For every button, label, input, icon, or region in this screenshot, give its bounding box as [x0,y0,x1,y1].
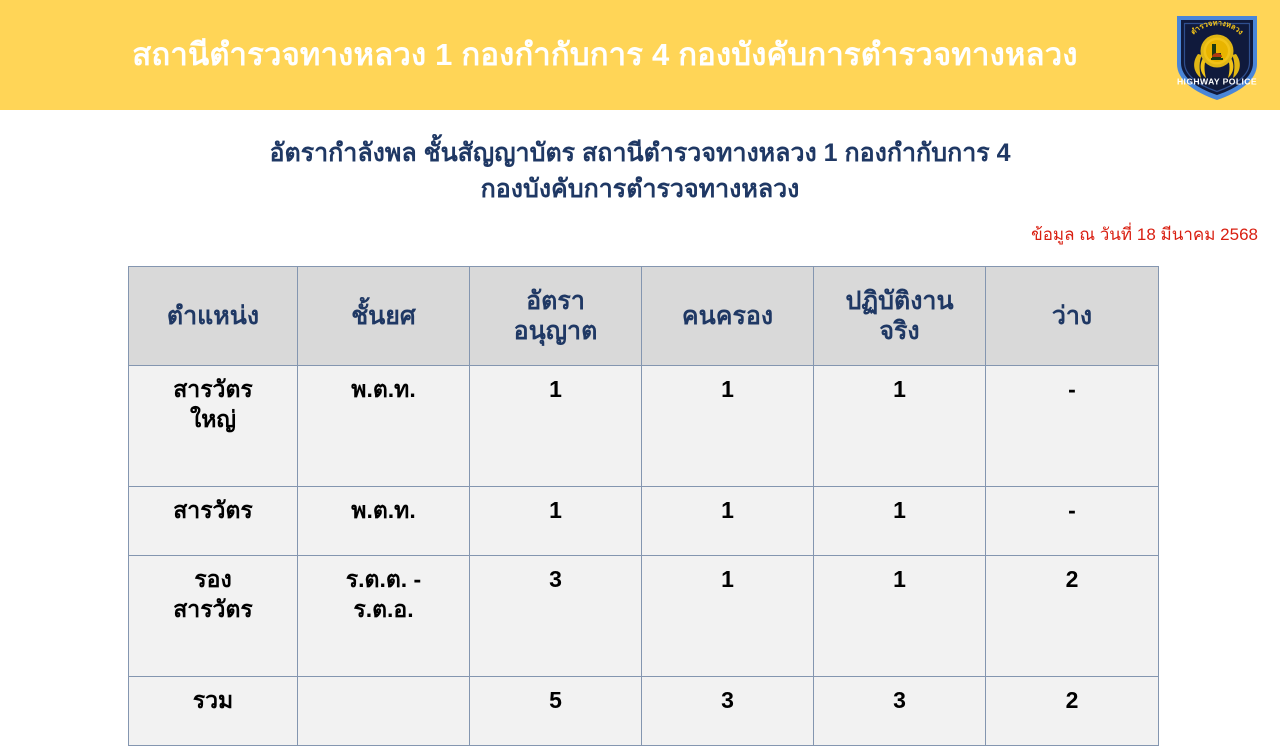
column-header-vacant: ว่าง [986,267,1159,366]
table-row: สารวัตร พ.ต.ท. 1 1 1 - [129,487,1159,556]
column-header-quota: อัตรา อนุญาต [470,267,642,366]
cell-active: 1 [814,366,986,487]
cell-total-rank [298,677,470,746]
table-header-row: ตำแหน่ง ชั้นยศ อัตรา อนุญาต คนคร [129,267,1159,366]
personnel-table-container: ตำแหน่ง ชั้นยศ อัตรา อนุญาต คนคร [128,266,1158,746]
column-header-held-line-1: คนครอง [648,301,807,332]
cell-rank-line-1: ร.ต.ต. - [304,564,463,594]
page-title: อัตรากำลังพล ชั้นสัญญาบัตร สถานีตำรวจทาง… [0,110,1280,207]
column-header-held: คนครอง [642,267,814,366]
cell-quota: 3 [470,556,642,677]
cell-position: สารวัตร ใหญ่ [129,366,298,487]
cell-active: 1 [814,556,986,677]
cell-vacant: - [986,366,1159,487]
cell-active: 1 [814,487,986,556]
cell-rank-line-1: พ.ต.ท. [304,495,463,525]
page-title-line-2: กองบังคับการตำรวจทางหลวง [0,172,1280,208]
cell-position-line-1: สารวัตร [135,495,291,525]
cell-position-line-2: สารวัตร [135,594,291,624]
cell-rank: พ.ต.ท. [298,487,470,556]
cell-rank-line-2: ร.ต.อ. [304,594,463,624]
cell-position-line-1: รอง [135,564,291,594]
table-row: สารวัตร ใหญ่ พ.ต.ท. 1 1 1 - [129,366,1159,487]
column-header-active-line-1: ปฏิบัติงาน [820,286,979,317]
cell-total-active: 3 [814,677,986,746]
cell-held: 1 [642,366,814,487]
cell-position: สารวัตร [129,487,298,556]
column-header-quota-line-1: อัตรา [476,286,635,317]
column-header-active-line-2: จริง [820,316,979,347]
highway-police-badge-icon: ตำรวจทางหลวง HIGHWAY POLICE [1168,6,1266,104]
cell-quota: 1 [470,366,642,487]
cell-held: 1 [642,556,814,677]
column-header-quota-line-2: อนุญาต [476,316,635,347]
banner-title: สถานีตำรวจทางหลวง 1 กองกำกับการ 4 กองบัง… [60,0,1150,110]
cell-rank: พ.ต.ท. [298,366,470,487]
cell-quota: 1 [470,487,642,556]
cell-held: 1 [642,487,814,556]
column-header-position-line-1: ตำแหน่ง [135,301,291,332]
column-header-rank-line-1: ชั้นยศ [304,301,463,332]
table-row: รอง สารวัตร ร.ต.ต. - ร.ต.อ. 3 1 1 2 [129,556,1159,677]
cell-rank: ร.ต.ต. - ร.ต.อ. [298,556,470,677]
cell-position-line-2: ใหญ่ [135,404,291,434]
cell-total-held: 3 [642,677,814,746]
cell-total-label: รวม [129,677,298,746]
cell-vacant: 2 [986,556,1159,677]
column-header-position: ตำแหน่ง [129,267,298,366]
data-as-of-date: ข้อมูล ณ วันที่ 18 มีนาคม 2568 [0,207,1280,248]
cell-vacant: - [986,487,1159,556]
table-total-row: รวม 5 3 3 2 [129,677,1159,746]
cell-rank-line-1: พ.ต.ท. [304,374,463,404]
svg-text:HIGHWAY POLICE: HIGHWAY POLICE [1177,77,1257,87]
column-header-vacant-line-1: ว่าง [992,301,1152,332]
cell-position-line-1: สารวัตร [135,374,291,404]
personnel-table: ตำแหน่ง ชั้นยศ อัตรา อนุญาต คนคร [128,266,1159,746]
cell-total-quota: 5 [470,677,642,746]
page-title-line-1: อัตรากำลังพล ชั้นสัญญาบัตร สถานีตำรวจทาง… [0,136,1280,172]
page-banner: สถานีตำรวจทางหลวง 1 กองกำกับการ 4 กองบัง… [0,0,1280,110]
cell-position: รอง สารวัตร [129,556,298,677]
column-header-active: ปฏิบัติงาน จริง [814,267,986,366]
column-header-rank: ชั้นยศ [298,267,470,366]
cell-total-vacant: 2 [986,677,1159,746]
